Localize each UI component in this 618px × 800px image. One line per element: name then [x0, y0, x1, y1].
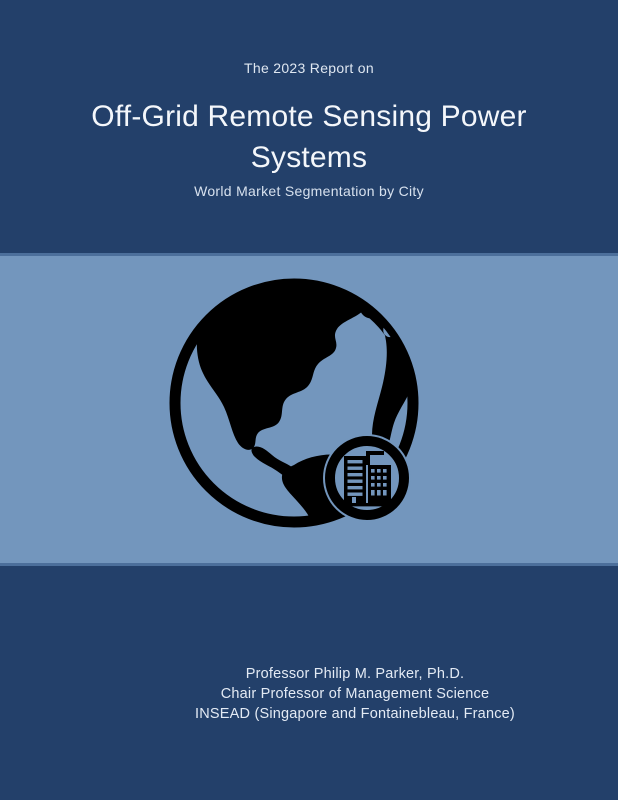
title-block: The 2023 Report on Off-Grid Remote Sensi…: [0, 0, 618, 253]
globe-with-city-inset-illustration: [166, 275, 446, 550]
author-role: Chair Professor of Management Science: [155, 684, 555, 704]
city-inset-magnifier-icon: [323, 434, 411, 522]
report-eyebrow: The 2023 Report on: [0, 59, 618, 77]
book-cover: The 2023 Report on Off-Grid Remote Sensi…: [0, 0, 618, 800]
author-name: Professor Philip M. Parker, Ph.D.: [155, 664, 555, 684]
page-subtitle: World Market Segmentation by City: [0, 182, 618, 201]
page-title: Off-Grid Remote Sensing Power Systems: [59, 96, 559, 178]
author-block: Professor Philip M. Parker, Ph.D. Chair …: [155, 664, 555, 724]
author-affiliation: INSEAD (Singapore and Fontainebleau, Fra…: [155, 704, 555, 724]
